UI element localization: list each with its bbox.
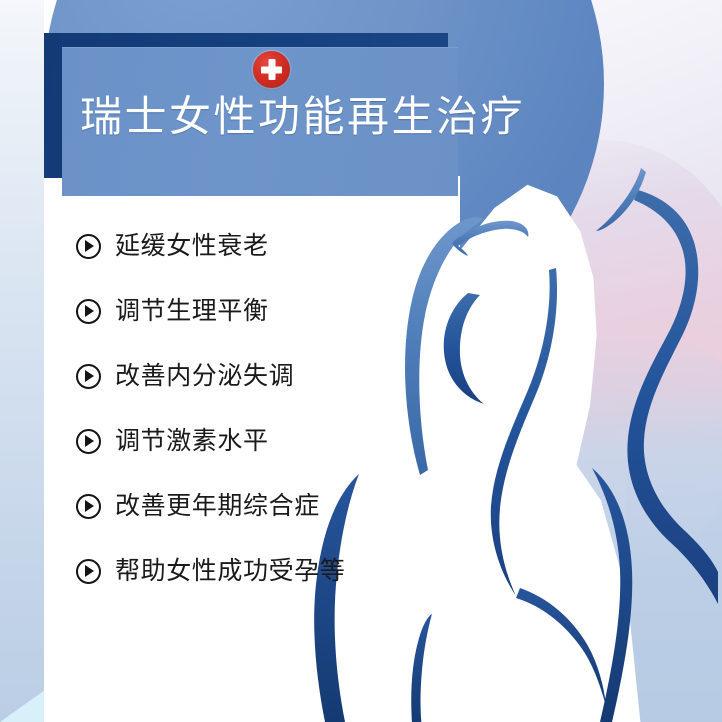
list-item-label: 调节激素水平 — [115, 429, 269, 454]
poster-canvas: 瑞士女性功能再生治疗 延缓女性衰老 调节生理平衡 改善内分泌失调 调节激素水平 … — [0, 0, 722, 722]
list-item: 改善内分泌失调 — [76, 362, 406, 390]
red-cross-medical-icon — [253, 51, 290, 88]
circled-arrow-bullet-icon — [76, 234, 101, 259]
circled-arrow-bullet-icon — [76, 299, 101, 324]
list-item: 调节生理平衡 — [76, 297, 406, 325]
list-item: 改善更年期综合症 — [76, 492, 406, 520]
list-item-label: 帮助女性成功受孕等 — [115, 559, 345, 584]
circled-arrow-bullet-icon — [76, 559, 101, 584]
left-strip-corner-wedge — [0, 664, 44, 722]
list-item: 帮助女性成功受孕等 — [76, 557, 406, 585]
circled-arrow-bullet-icon — [76, 429, 101, 454]
page-title: 瑞士女性功能再生治疗 — [80, 96, 510, 138]
list-item-label: 改善内分泌失调 — [115, 364, 294, 389]
left-accent-strip — [0, 0, 44, 722]
list-item: 调节激素水平 — [76, 427, 406, 455]
circled-arrow-bullet-icon — [76, 364, 101, 389]
list-item: 延缓女性衰老 — [76, 232, 406, 260]
list-item-label: 改善更年期综合症 — [115, 494, 320, 519]
list-item-label: 延缓女性衰老 — [115, 234, 269, 259]
benefits-list: 延缓女性衰老 调节生理平衡 改善内分泌失调 调节激素水平 改善更年期综合症 帮助… — [76, 232, 406, 585]
list-item-label: 调节生理平衡 — [115, 299, 269, 324]
circled-arrow-bullet-icon — [76, 494, 101, 519]
